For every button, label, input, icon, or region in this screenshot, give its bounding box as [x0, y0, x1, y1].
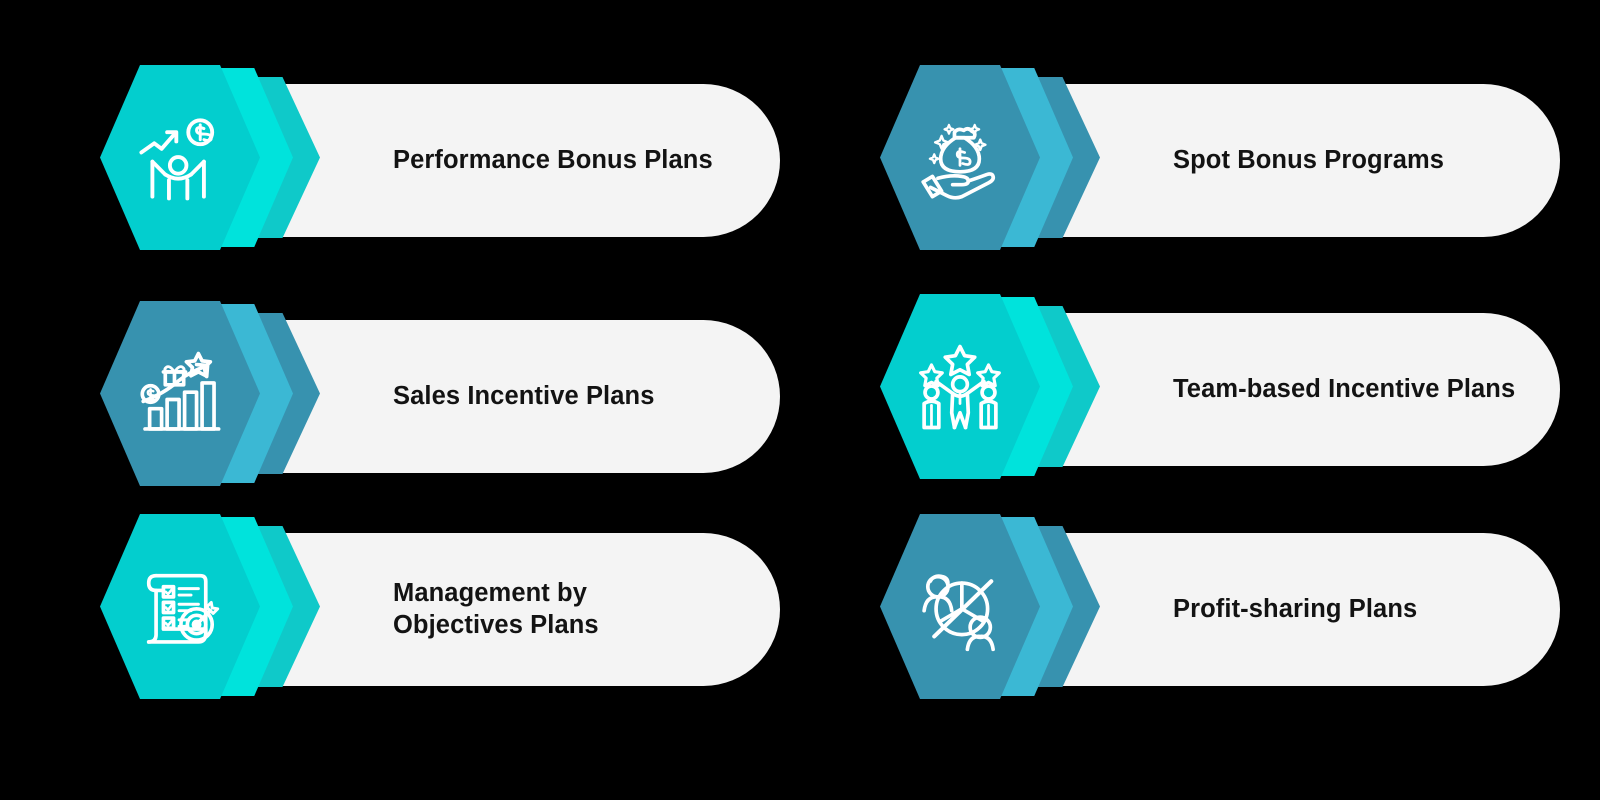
hexagon-layer-back	[950, 77, 1100, 238]
card-performance-bonus-plans[interactable]: Performance Bonus Plans	[140, 84, 780, 237]
card-label-sales-incentive-plans: Sales Incentive Plans	[393, 381, 740, 412]
hexagon-layer-front	[100, 301, 260, 486]
card-label-spot-bonus-programs: Spot Bonus Programs	[1173, 145, 1520, 176]
hexagon-layer-back	[170, 313, 320, 474]
hexagon-layer-front	[100, 514, 260, 699]
hexagon-drop-shadow	[898, 686, 1030, 716]
bar-chart-gift-star-growth-icon	[134, 348, 226, 440]
hand-holding-money-bag-icon	[914, 112, 1006, 204]
hexagon-layer-back	[170, 526, 320, 687]
hexagon-drop-shadow	[118, 237, 250, 267]
hexagon-layer-back	[950, 526, 1100, 687]
hexagon-badge-team-based-incentive-plans	[880, 294, 1110, 485]
hexagon-layer-front	[880, 294, 1040, 479]
hexagon-layer-middle	[138, 68, 293, 247]
checklist-scroll-target-icon	[134, 561, 226, 653]
pie-chart-people-sharing-icon	[914, 561, 1006, 653]
infographic-board: Performance Bonus Plans Spot Bonus Progr…	[0, 0, 1600, 800]
hexagon-layer-middle	[138, 517, 293, 696]
hexagon-layer-middle	[138, 304, 293, 483]
card-spot-bonus-programs[interactable]: Spot Bonus Programs	[920, 84, 1560, 237]
hexagon-badge-management-by-objectives-plans	[100, 514, 330, 705]
hexagon-badge-spot-bonus-programs	[880, 65, 1110, 256]
three-people-with-stars-icon	[914, 341, 1006, 433]
card-sales-incentive-plans[interactable]: Sales Incentive Plans	[140, 320, 780, 473]
card-label-team-based-incentive-plans: Team-based Incentive Plans	[1173, 374, 1520, 405]
hexagon-layer-front	[880, 514, 1040, 699]
hexagon-badge-profit-sharing-plans	[880, 514, 1110, 705]
hexagon-layer-front	[100, 65, 260, 250]
card-management-by-objectives-plans[interactable]: Management by Objectives Plans	[140, 533, 780, 686]
hexagon-layer-middle	[918, 297, 1073, 476]
card-label-profit-sharing-plans: Profit-sharing Plans	[1173, 594, 1520, 625]
hexagon-drop-shadow	[898, 466, 1030, 496]
card-team-based-incentive-plans[interactable]: Team-based Incentive Plans	[920, 313, 1560, 466]
hexagon-layer-back	[950, 306, 1100, 467]
hexagon-badge-sales-incentive-plans	[100, 301, 330, 492]
hexagon-layer-middle	[918, 68, 1073, 247]
hexagon-drop-shadow	[118, 473, 250, 503]
person-celebrating-growth-arrow-coin-icon	[134, 112, 226, 204]
hexagon-drop-shadow	[898, 237, 1030, 267]
hexagon-layer-back	[170, 77, 320, 238]
hexagon-drop-shadow	[118, 686, 250, 716]
hexagon-layer-middle	[918, 517, 1073, 696]
hexagon-layer-front	[880, 65, 1040, 250]
card-profit-sharing-plans[interactable]: Profit-sharing Plans	[920, 533, 1560, 686]
hexagon-badge-performance-bonus-plans	[100, 65, 330, 256]
card-label-management-by-objectives-plans: Management by Objectives Plans	[393, 578, 740, 640]
card-label-performance-bonus-plans: Performance Bonus Plans	[393, 145, 740, 176]
